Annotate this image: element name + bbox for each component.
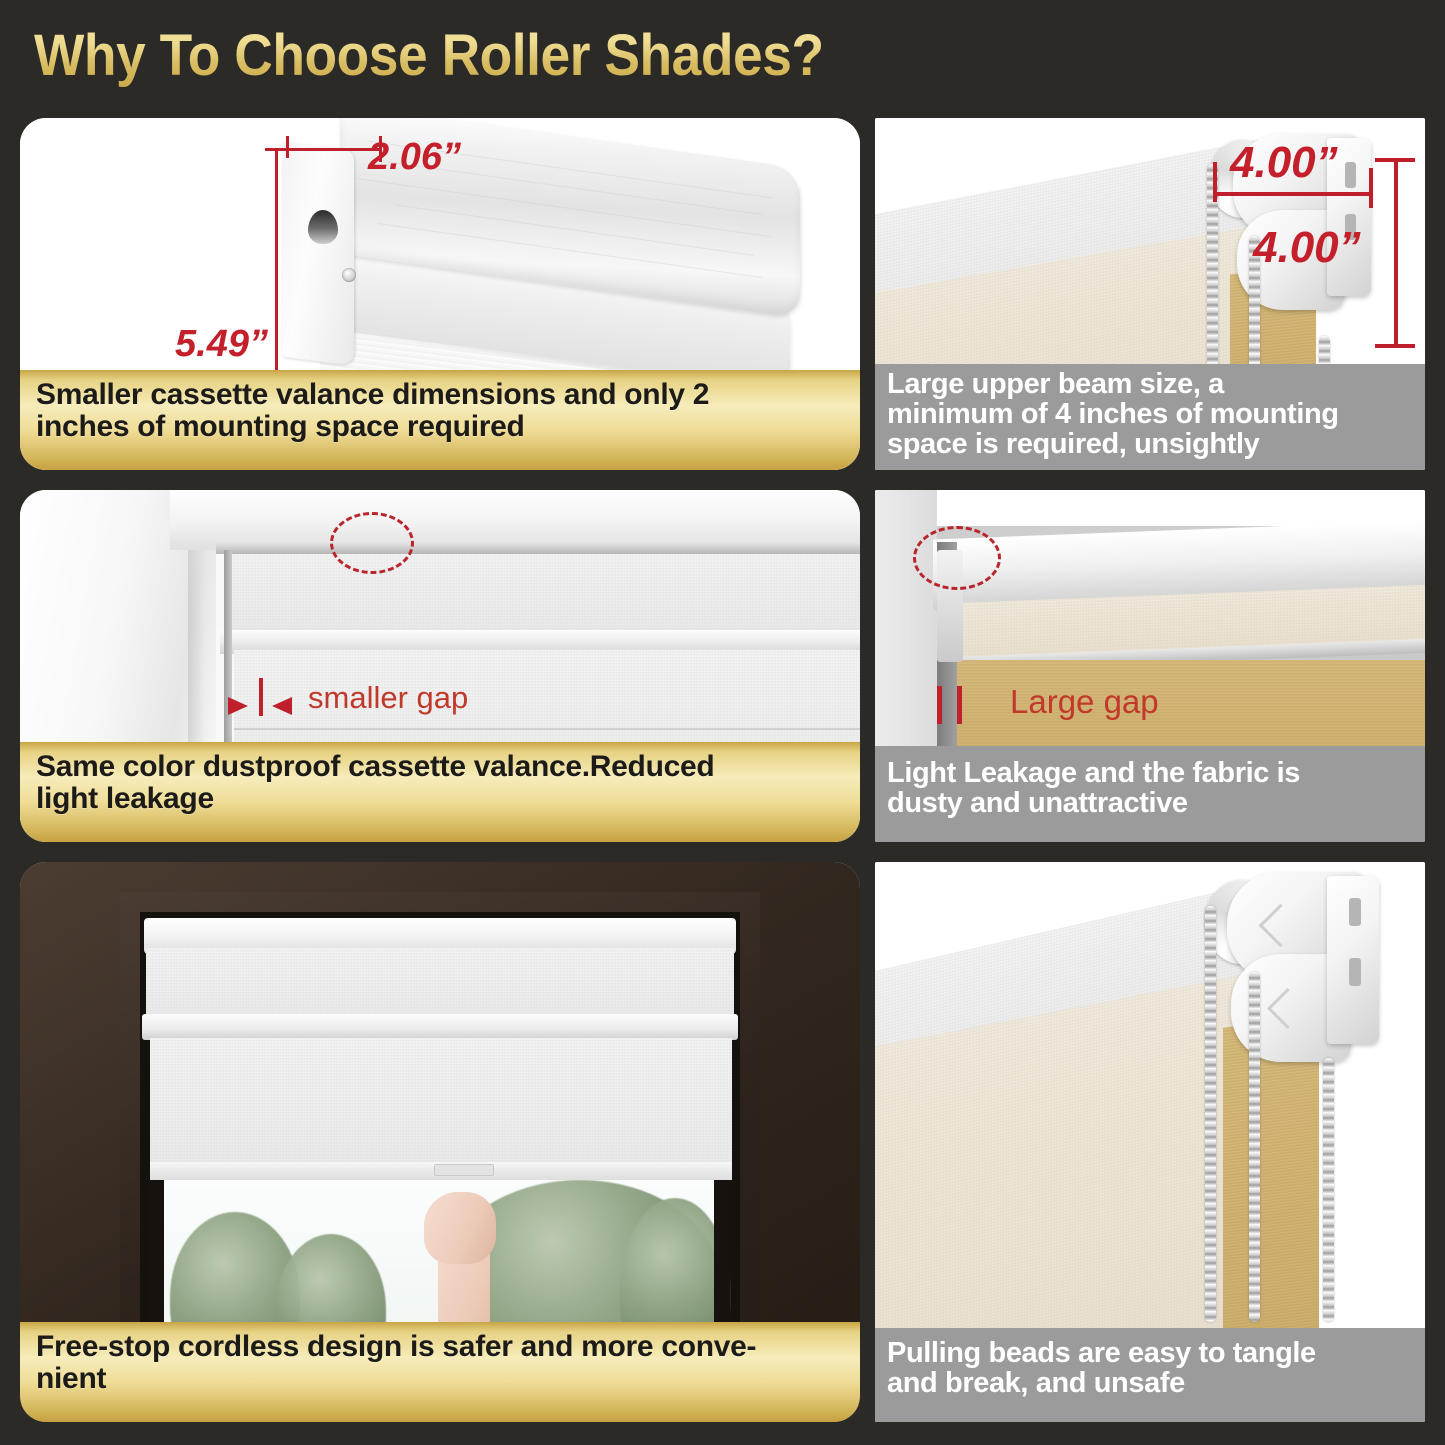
caption-line-1: Free-stop cordless design is safer and m… xyxy=(36,1331,844,1363)
caption-line-1: Large upper beam size, a xyxy=(887,369,1413,399)
gap-arrow-left-p3 xyxy=(228,697,248,715)
caption-line-2: inches of mounting space required xyxy=(36,411,844,443)
width-dimension-label: 2.06” xyxy=(368,136,461,179)
caption-line-3: space is required, unsightly xyxy=(887,429,1413,459)
caption-line-2: minimum of 4 inches of mounting xyxy=(887,399,1413,429)
beam-height-cap-bottom xyxy=(1375,344,1415,348)
shade-fabric-main xyxy=(150,1038,732,1180)
caption-line-1: Light Leakage and the fabric is xyxy=(887,758,1413,788)
wall-top xyxy=(875,490,1425,526)
panel-pro-cordless-design: Free-stop cordless design is safer and m… xyxy=(20,862,860,1422)
shade-fabric-upper xyxy=(146,948,734,1024)
hand-fist xyxy=(424,1192,496,1264)
beam-width-dim-line xyxy=(1213,192,1373,196)
valance-bottom-lip xyxy=(142,1014,738,1040)
caption-pro-valance-size: Smaller cassette valance dimensions and … xyxy=(20,370,860,470)
bracket-slot-lower xyxy=(1349,958,1361,986)
caption-con-pulling-beads: Pulling beads are easy to tangle and bre… xyxy=(875,1328,1425,1422)
gap-measure-tick-a xyxy=(937,686,942,724)
bracket-slot-upper xyxy=(1345,162,1356,188)
beam-height-cap-top xyxy=(1375,158,1415,162)
caption-con-beam-size: Large upper beam size, a minimum of 4 in… xyxy=(875,364,1425,470)
panel-pro-dustproof-valance: smaller gap Same color dustproof cassett… xyxy=(20,490,860,842)
beam-width-dimension-label: 4.00” xyxy=(1230,138,1338,188)
gap-arrow-right-p3 xyxy=(272,697,292,715)
gap-measure-tick xyxy=(259,678,263,716)
width-dim-tick-left xyxy=(286,136,289,158)
page-title: Why To Choose Roller Shades? xyxy=(34,22,824,89)
fabric-seam xyxy=(234,728,860,730)
beam-height-dimension-label: 4.00” xyxy=(1253,223,1361,273)
beam-width-tick-right xyxy=(1369,168,1373,208)
bead-chain-right xyxy=(1323,1058,1334,1322)
panel-con-light-leakage: Large gap Light Leakage and the fabric i… xyxy=(875,490,1425,842)
cassette-valance-bar xyxy=(216,542,860,554)
header-bar: Why To Choose Roller Shades? xyxy=(0,0,1445,108)
caption-pro-dustproof-valance: Same color dustproof cassette valance.Re… xyxy=(20,742,860,842)
caption-line-1: Same color dustproof cassette valance.Re… xyxy=(36,751,844,783)
gap-highlight-circle xyxy=(330,512,414,574)
panel-con-beam-size: 4.00” 4.00” Large upper beam size, a min… xyxy=(875,118,1425,470)
caption-line-2: dusty and unattractive xyxy=(887,788,1413,818)
gap-callout-label: smaller gap xyxy=(308,680,468,716)
gap-highlight-circle xyxy=(913,526,1001,590)
panel-con-pulling-beads: Pulling beads are easy to tangle and bre… xyxy=(875,862,1425,1422)
caption-line-1: Smaller cassette valance dimensions and … xyxy=(36,379,844,411)
height-dimension-label: 5.49” xyxy=(175,323,268,366)
gap-measure-tick-b xyxy=(957,686,962,724)
caption-line-2: and break, and unsafe xyxy=(887,1368,1413,1398)
beam-width-tick-left xyxy=(1213,162,1217,202)
bracket-slot-upper xyxy=(1349,898,1361,926)
caption-line-2: light leakage xyxy=(36,783,844,815)
screw-hole-upper xyxy=(342,268,356,282)
caption-con-light-leakage: Light Leakage and the fabric is dusty an… xyxy=(875,746,1425,842)
beam-height-dim-line xyxy=(1394,158,1398,348)
caption-line-1: Pulling beads are easy to tangle xyxy=(887,1338,1413,1368)
bead-chain-left xyxy=(1205,906,1216,1322)
height-dim-cap-top xyxy=(265,148,295,151)
valance-end-cap xyxy=(282,142,354,366)
caption-pro-cordless-design: Free-stop cordless design is safer and m… xyxy=(20,1322,860,1422)
bead-chain-middle xyxy=(1249,972,1260,1322)
gap-callout-label: Large gap xyxy=(1010,683,1159,721)
valance-slot xyxy=(308,210,338,244)
shade-pull-tab xyxy=(434,1164,494,1176)
caption-line-2: nient xyxy=(36,1363,844,1395)
panel-pro-valance-size: 2.06” 5.49” Smaller cassette valance dim… xyxy=(20,118,860,470)
shade-fabric-upper xyxy=(224,554,860,636)
header-molding xyxy=(170,490,860,550)
